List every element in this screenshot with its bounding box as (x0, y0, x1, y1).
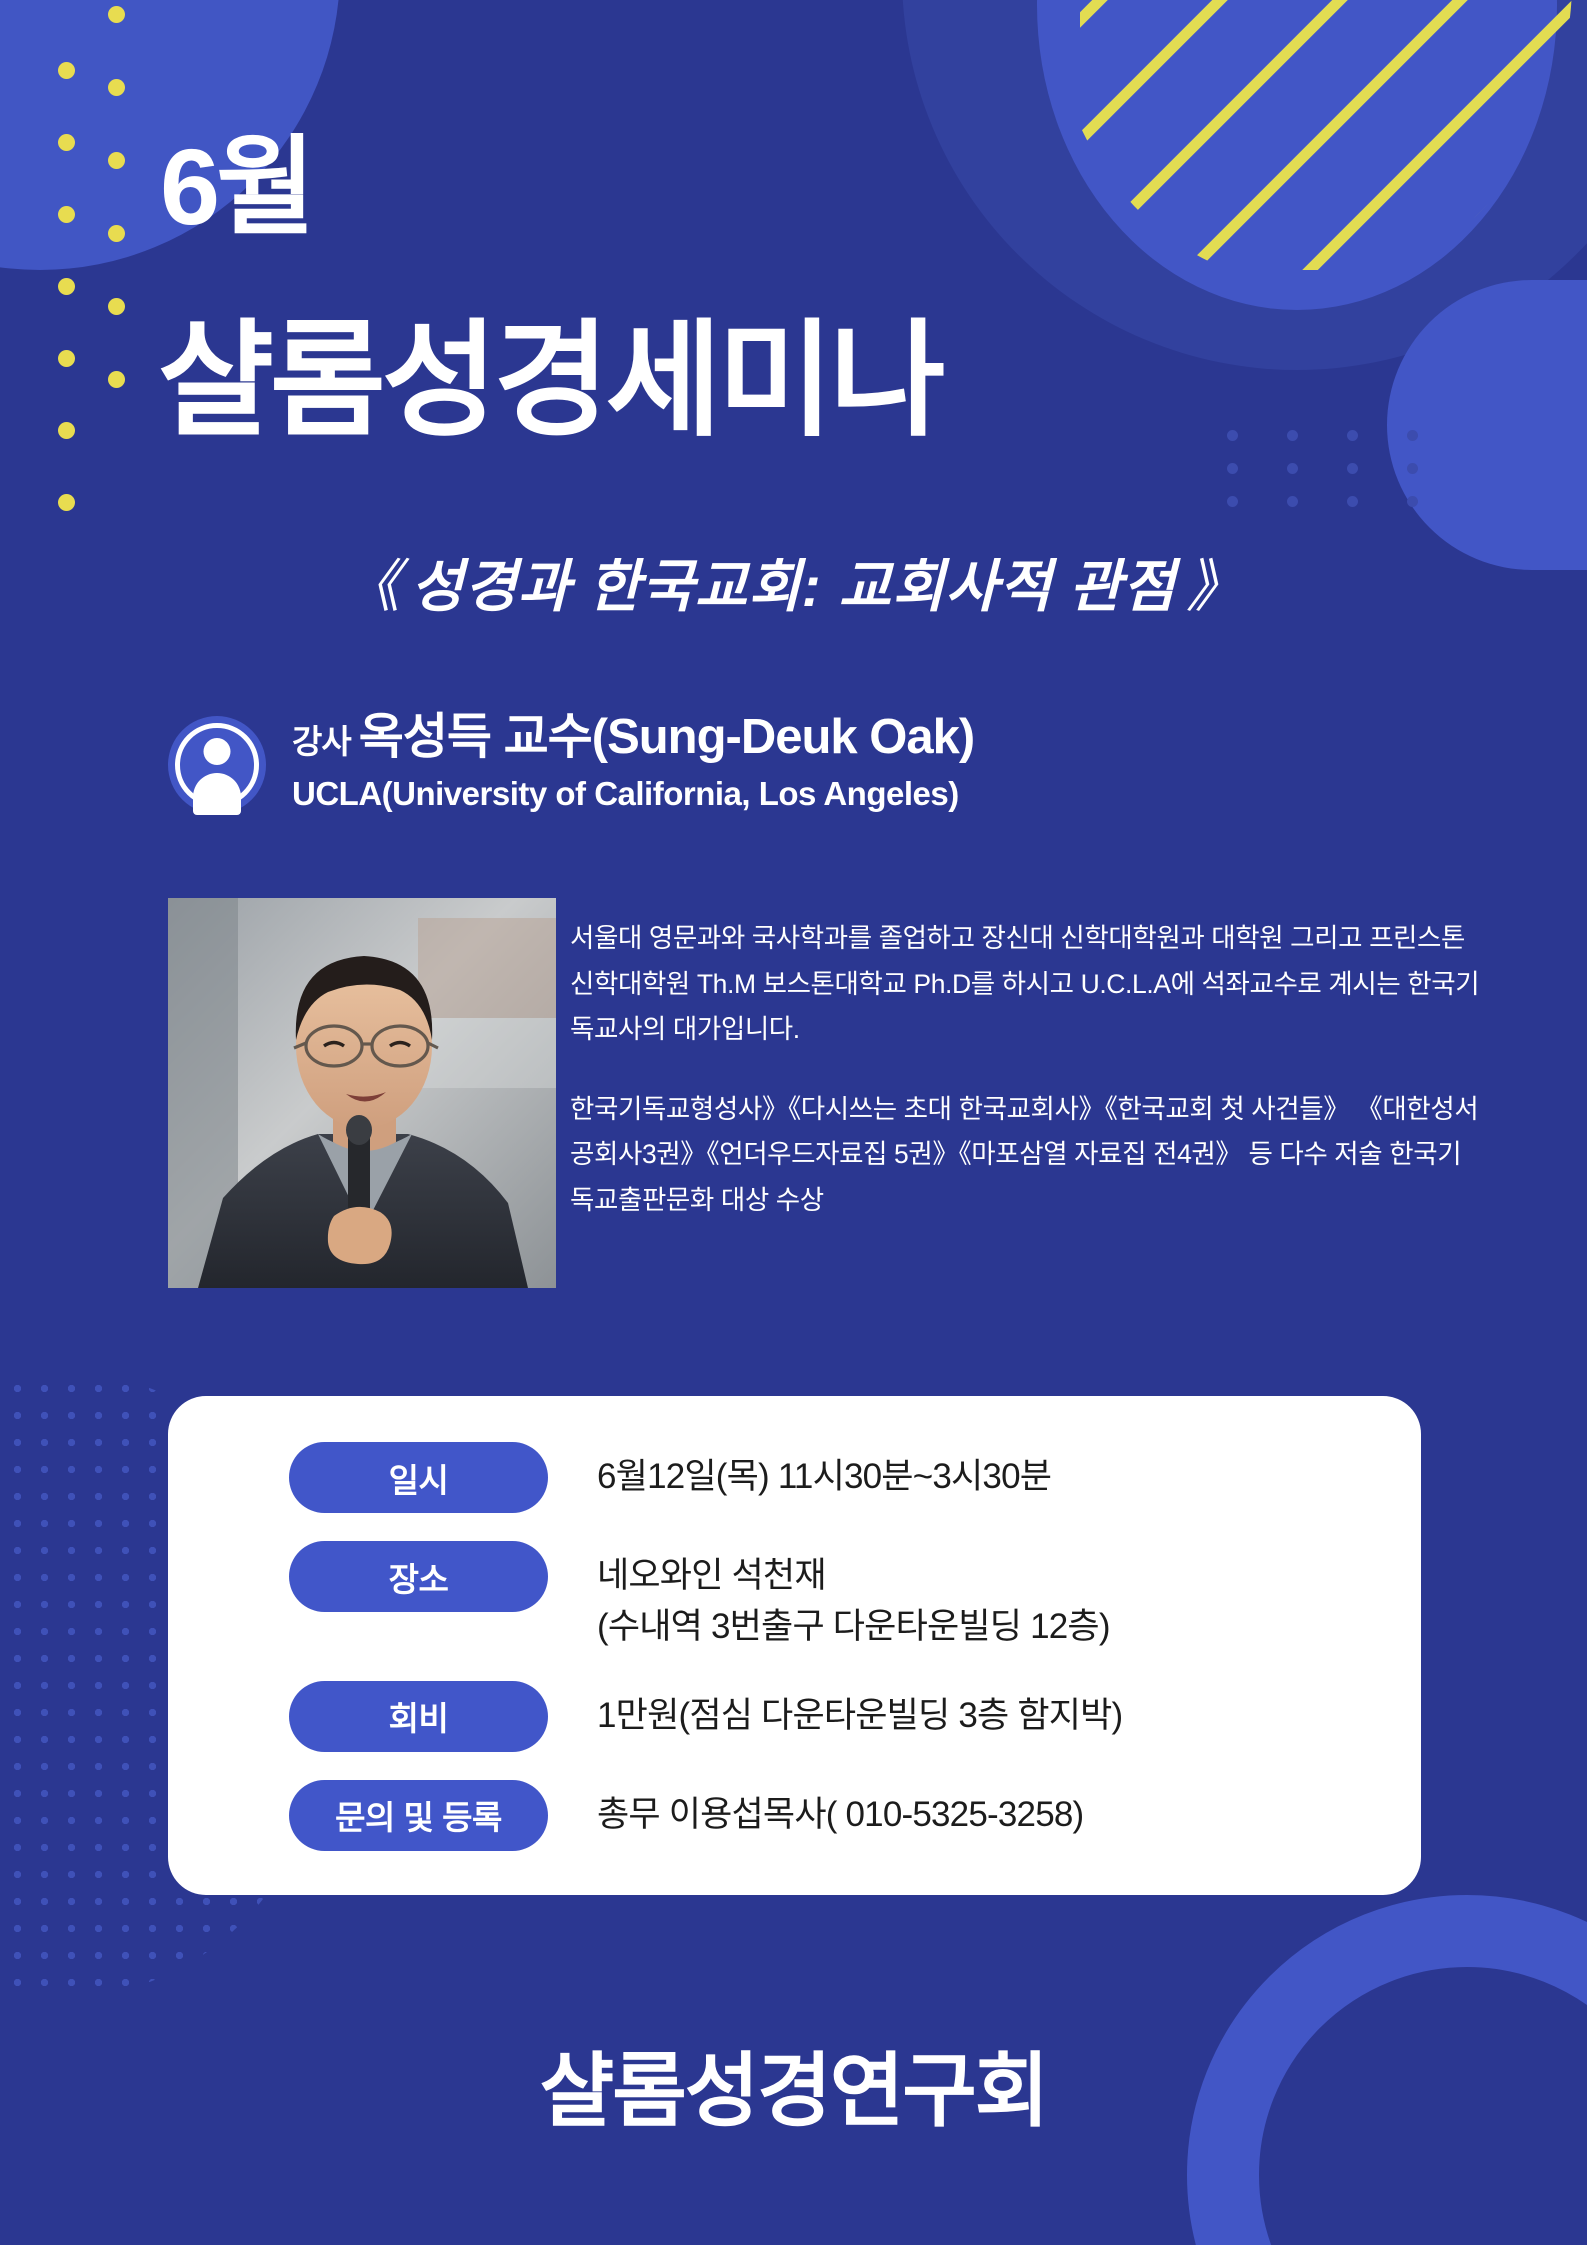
decor-dot (1407, 496, 1418, 507)
info-row-venue: 장소 네오와인 석천재 (수내역 3번출구 다운타운빌딩 12층) (168, 1541, 1421, 1653)
decor-dot (108, 225, 125, 242)
decor-dot (108, 152, 125, 169)
decor-dot (1227, 463, 1238, 474)
speaker-bio: 서울대 영문과와 국사학과를 졸업하고 장신대 신학대학원과 대학원 그리고 프… (570, 916, 1480, 1223)
info-value-contact: 총무 이용섭목사( 010-5325-3258) (597, 1780, 1083, 1841)
decor-dot (1287, 430, 1298, 441)
decor-dot (1347, 496, 1358, 507)
decor-dot (58, 422, 75, 439)
subtitle-text: 성경과 한국교회: 교회사적 관점 (411, 555, 1176, 619)
decor-dot (58, 494, 75, 511)
subtitle-close-bracket: 》 (1176, 555, 1254, 619)
decor-dot (58, 62, 75, 79)
bio-paragraph-2: 한국기독교형성사》《다시쓰는 초대 한국교회사》《한국교회 첫 사건들》 《대한… (570, 1087, 1480, 1224)
decor-dot (1407, 463, 1418, 474)
info-value-datetime: 6월12일(목) 11시30분~3시30분 (597, 1442, 1051, 1503)
info-label-datetime: 일시 (289, 1442, 548, 1513)
bio-paragraph-1: 서울대 영문과와 국사학과를 졸업하고 장신대 신학대학원과 대학원 그리고 프… (570, 916, 1480, 1053)
decor-dot (1227, 430, 1238, 441)
decor-dot (58, 278, 75, 295)
decor-dot (1287, 496, 1298, 507)
speaker-photo (168, 898, 556, 1288)
speaker-name: 옥성득 교수(Sung-Deuk Oak) (359, 710, 975, 764)
event-info-card: 일시 6월12일(목) 11시30분~3시30분 장소 네오와인 석천재 (수내… (168, 1396, 1421, 1895)
decor-dot (1407, 430, 1418, 441)
person-avatar-icon (168, 716, 266, 814)
decor-dot (58, 350, 75, 367)
info-row-fee: 회비 1만원(점심 다운타운빌딩 3층 함지박) (168, 1681, 1421, 1752)
avatar-ring (175, 723, 259, 807)
info-label-venue: 장소 (289, 1541, 548, 1612)
decor-dot (108, 79, 125, 96)
decor-dot-column-right (108, 6, 125, 388)
decor-diagonal-stripes (1080, 0, 1587, 270)
decor-dot (58, 134, 75, 151)
speaker-name-line: 강사옥성득 교수(Sung-Deuk Oak) (292, 710, 974, 765)
decor-faint-dot-grid (1227, 430, 1437, 507)
info-value-venue: 네오와인 석천재 (수내역 3번출구 다운타운빌딩 12층) (597, 1541, 1110, 1653)
page-title: 샬롬성경세미나 (158, 318, 941, 444)
info-value-fee: 1만원(점심 다운타운빌딩 3층 함지박) (597, 1681, 1122, 1742)
subtitle-line: 《성경과 한국교회: 교회사적 관점》 (0, 541, 1587, 623)
decor-dot (108, 298, 125, 315)
seminar-poster: 6월 샬롬성경세미나 《성경과 한국교회: 교회사적 관점》 강사옥성득 교수(… (0, 0, 1587, 2245)
decor-dot (1347, 463, 1358, 474)
speaker-block: 강사옥성득 교수(Sung-Deuk Oak) UCLA(University … (168, 706, 974, 814)
decor-dot (58, 206, 75, 223)
decor-dot (108, 371, 125, 388)
speaker-text-group: 강사옥성득 교수(Sung-Deuk Oak) UCLA(University … (292, 706, 974, 813)
decor-dot (108, 6, 125, 23)
decor-dot (1287, 463, 1298, 474)
info-label-contact: 문의 및 등록 (289, 1780, 548, 1851)
speaker-affiliation: UCLA(University of California, Los Angel… (292, 775, 974, 813)
info-row-datetime: 일시 6월12일(목) 11시30분~3시30분 (168, 1442, 1421, 1513)
subtitle-open-bracket: 《 (333, 555, 411, 619)
decor-dot-column-left (58, 62, 75, 511)
month-heading: 6월 (160, 133, 311, 241)
speaker-role-label: 강사 (292, 723, 351, 760)
decor-dot (1347, 430, 1358, 441)
decor-dot (1227, 496, 1238, 507)
info-row-contact: 문의 및 등록 총무 이용섭목사( 010-5325-3258) (168, 1780, 1421, 1851)
info-label-fee: 회비 (289, 1681, 548, 1752)
organization-name: 샬롬성경연구회 (0, 2026, 1587, 2143)
